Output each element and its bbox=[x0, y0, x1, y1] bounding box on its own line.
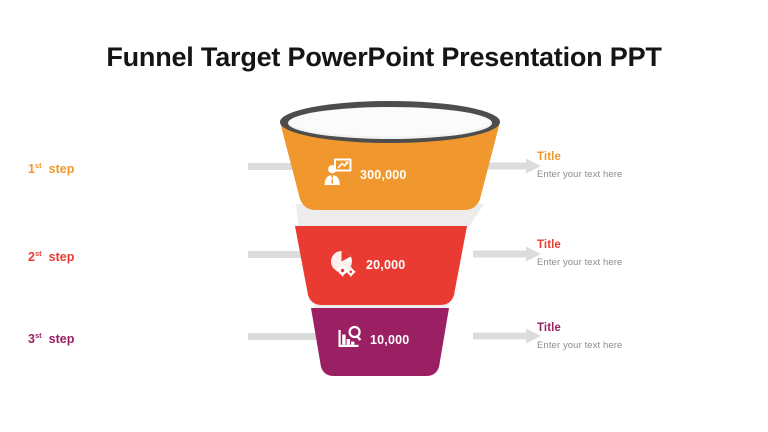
info-subtitle-3: Enter your text here bbox=[537, 338, 737, 353]
step-ordinal-1: 1 bbox=[28, 162, 35, 176]
step-word-3: step bbox=[49, 332, 75, 346]
info-subtitle-1: Enter your text here bbox=[537, 167, 737, 182]
step-ordinal-2: 2 bbox=[28, 250, 35, 264]
funnel-band-1 bbox=[280, 101, 500, 210]
presenter-board-icon bbox=[323, 157, 353, 192]
info-title-1: Title bbox=[537, 150, 737, 165]
step-word-1: step bbox=[49, 162, 75, 176]
page-title: Funnel Target PowerPoint Presentation PP… bbox=[0, 42, 768, 73]
funnel-value-2: 20,000 bbox=[366, 258, 405, 272]
info-block-3: Title Enter your text here bbox=[537, 321, 737, 353]
pie-chart-gears-icon bbox=[329, 249, 357, 282]
info-block-2: Title Enter your text here bbox=[537, 238, 737, 270]
step-word-2: step bbox=[49, 250, 75, 264]
bar-chart-search-icon bbox=[337, 325, 363, 356]
step-label-1: 1ststep bbox=[28, 161, 148, 176]
info-title-3: Title bbox=[537, 321, 737, 336]
step-label-2: 2ststep bbox=[28, 249, 148, 264]
info-subtitle-2: Enter your text here bbox=[537, 255, 737, 270]
funnel-value-3: 10,000 bbox=[370, 333, 409, 347]
info-block-1: Title Enter your text here bbox=[537, 150, 737, 182]
step-ordinal-suffix-3: st bbox=[35, 331, 42, 340]
step-label-3: 3ststep bbox=[28, 331, 148, 346]
step-ordinal-suffix-2: st bbox=[35, 249, 42, 258]
info-title-2: Title bbox=[537, 238, 737, 253]
step-ordinal-3: 3 bbox=[28, 332, 35, 346]
step-ordinal-suffix-1: st bbox=[35, 161, 42, 170]
funnel-value-1: 300,000 bbox=[360, 168, 407, 182]
